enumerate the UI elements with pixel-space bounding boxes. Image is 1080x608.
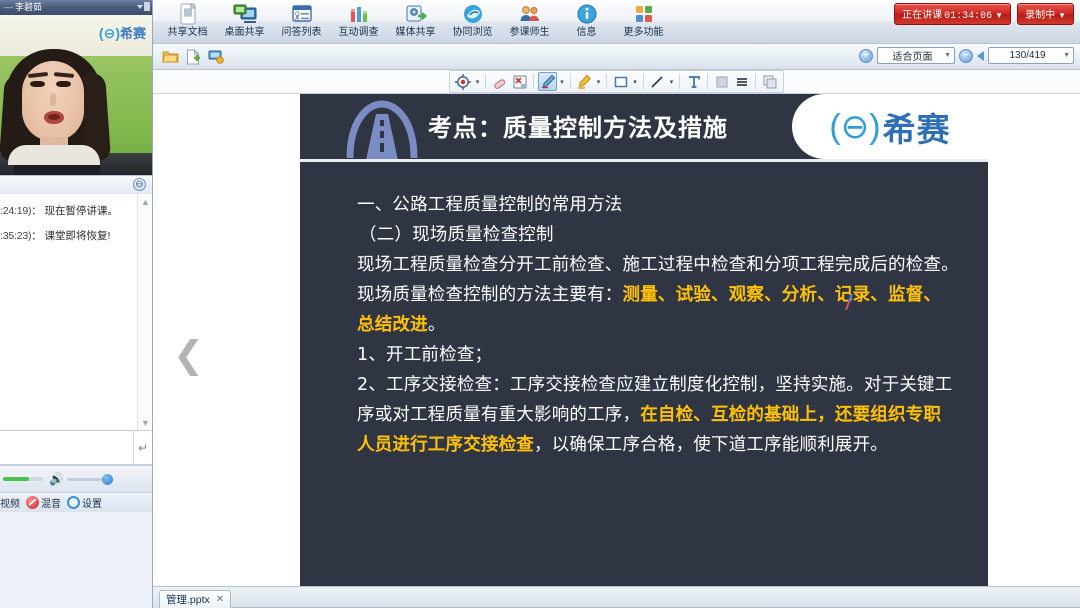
teacher-video-feed[interactable]: (⊖)希赛: [0, 15, 152, 175]
shirt-icon: [8, 145, 100, 165]
chat-message-list: :24:19)： 现在暂停讲课。 :35:23)： 课堂即将恢复!: [0, 194, 137, 430]
annotation-toolbar: ▾ ▾ ▾: [153, 70, 1080, 94]
scroll-down-icon[interactable]: ▼: [138, 415, 153, 430]
xisai-logo-text: 希赛: [883, 103, 951, 151]
chat-timestamp: :35:23)：: [0, 230, 42, 242]
chat-scrollbar[interactable]: ▲ ▼: [137, 194, 152, 430]
speaker-icon[interactable]: 🔊: [49, 472, 64, 486]
audio-item-video[interactable]: 视频: [0, 495, 20, 510]
eye-right-icon: [56, 81, 71, 87]
road-icon: [340, 98, 424, 160]
document-toolbar: + 适合页面 ▼ − 130/419 ▼: [153, 44, 1080, 70]
previous-page-button[interactable]: [977, 51, 984, 61]
pen-icon[interactable]: [538, 72, 557, 91]
chevron-down-icon[interactable]: ▼: [1058, 11, 1066, 20]
volume-slider-knob[interactable]: [102, 474, 113, 485]
slide-line-9-highlight: 人员进行工序交接检查: [357, 435, 534, 455]
toolbar-item-co-browse[interactable]: 协同浏览: [444, 0, 501, 39]
divider: [606, 74, 607, 89]
slide-line-4-highlight: 测量、试验、观察、分析、记录、监督、: [623, 285, 942, 305]
slide-line-8-highlight: 在自检、互检的基础上，还要组织专职: [640, 405, 941, 425]
zoom-controls: + 适合页面 ▼ − 130/419 ▼: [859, 47, 1074, 64]
new-document-icon[interactable]: [184, 48, 202, 66]
microphone-level-slider[interactable]: [3, 477, 43, 481]
page-indicator-value: 130/419: [995, 50, 1060, 61]
microphone-level-fill: [3, 477, 29, 481]
rectangle-icon[interactable]: [611, 72, 630, 91]
document-tab[interactable]: 管理.pptx ✕: [159, 590, 231, 608]
document-tab-label: 管理.pptx: [166, 592, 210, 607]
main-area: 共享文档 桌面共享 QA 问答列表 互动调查: [153, 0, 1080, 608]
toolbar-label: 信息: [558, 26, 615, 39]
zoom-in-button[interactable]: +: [859, 49, 873, 63]
scroll-up-icon[interactable]: ▲: [138, 194, 153, 209]
list-item: :35:23)： 课堂即将恢复!: [0, 223, 135, 248]
chat-toolbar: ⊖: [0, 176, 152, 194]
laser-pointer-icon[interactable]: [454, 72, 473, 91]
slide-line-9: 人员进行工序交接检查，以确保工序合格，使下道工序能顺利展开。: [357, 430, 954, 460]
toolbar-item-desktop-share[interactable]: 桌面共享: [216, 0, 273, 39]
survey-chart-icon: [330, 2, 387, 26]
chat-timestamp: :24:19)：: [0, 205, 42, 217]
xisai-logo: (⊖) 希赛: [792, 94, 988, 159]
divider: [755, 74, 756, 89]
slide-line-9-plain: ，以确保工序合格，使下道工序能顺利展开。: [534, 435, 888, 455]
chat-panel: ⊖ :24:19)： 现在暂停讲课。 :35:23)： 课堂即将恢复! ▲ ▼ …: [0, 175, 152, 512]
slide-stage: ❮ 考点：质量控制方法及措施 (⊖): [153, 94, 1080, 586]
divider: [643, 74, 644, 89]
divider: [570, 74, 571, 89]
collapse-icon[interactable]: ⊖: [133, 178, 146, 191]
toolbar-label: 协同浏览: [444, 26, 501, 39]
divider: [485, 74, 486, 89]
settings-label: 设置: [82, 495, 102, 510]
slide-header: 考点：质量控制方法及措施 (⊖) 希赛: [300, 94, 988, 162]
fit-mode-value: 适合页面: [884, 48, 941, 63]
divider: [533, 74, 534, 89]
chevron-down-icon[interactable]: ▼: [995, 11, 1003, 20]
gear-icon[interactable]: [67, 496, 80, 509]
slide-line-3: 现场工程质量检查分开工前检查、施工过程中检查和分项工程完成后的检查。: [357, 250, 954, 280]
application-window: —李碧茹: [0, 0, 1080, 608]
toolbar-item-media-share[interactable]: 媒体共享: [387, 0, 444, 39]
toolbar-item-info[interactable]: 信息: [558, 0, 615, 39]
chat-input[interactable]: ↵: [0, 430, 152, 465]
list-item: :24:19)： 现在暂停讲课。: [0, 198, 135, 223]
chat-text: 课堂即将恢复!: [45, 230, 111, 242]
chevron-down-icon[interactable]: ▾: [595, 78, 603, 86]
fill-color-icon[interactable]: [712, 72, 731, 91]
video-title-text: 李碧茹: [15, 2, 42, 12]
chat-text: 现在暂停讲课。: [45, 205, 119, 217]
xisai-watermark-text: 希赛: [120, 26, 146, 41]
toolbar-label: 互动调查: [330, 26, 387, 39]
xisai-ring-icon: (⊖): [829, 110, 880, 144]
slide-line-5: 总结改进。: [357, 310, 954, 340]
chevron-down-icon[interactable]: ▾: [474, 78, 482, 86]
co-browse-icon: [444, 2, 501, 26]
slide-line-2: （二）现场质量检查控制: [357, 220, 954, 250]
media-share-icon: [387, 2, 444, 26]
main-toolbar: 共享文档 桌面共享 QA 问答列表 互动调查: [153, 0, 1080, 44]
previous-slide-button[interactable]: ❮: [173, 336, 204, 373]
video-window-buttons[interactable]: [137, 2, 150, 11]
toolbar-label: 更多功能: [615, 26, 672, 39]
toolbar-label: 桌面共享: [216, 26, 273, 39]
slide-line-1: 一、公路工程质量控制的常用方法: [357, 190, 954, 220]
chevron-down-icon[interactable]: [137, 5, 143, 9]
slide-line-5-highlight: 总结改进: [357, 315, 428, 335]
fit-mode-select[interactable]: 适合页面 ▼: [877, 47, 955, 64]
slide-body: 一、公路工程质量控制的常用方法 （二）现场质量检查控制 现场工程质量检查分开工前…: [300, 162, 988, 460]
divider: [679, 74, 680, 89]
header-divider: [300, 159, 988, 162]
chevron-down-icon[interactable]: ▼: [1063, 52, 1070, 59]
shared-document-icon: [159, 2, 216, 26]
toolbar-item-survey[interactable]: 互动调查: [330, 0, 387, 39]
teaching-label: 正在讲课: [902, 10, 942, 21]
toolbar-label: 参课师生: [501, 26, 558, 39]
video-label: 视频: [0, 495, 20, 510]
screenshot-icon[interactable]: [760, 72, 779, 91]
chevron-down-icon[interactable]: ▼: [944, 52, 951, 59]
eye-left-icon: [30, 81, 45, 87]
teaching-timer: 01:34:06: [944, 11, 992, 22]
line-icon[interactable]: [648, 72, 667, 91]
send-icon[interactable]: ↵: [133, 431, 152, 465]
participants-icon: [501, 2, 558, 26]
chevron-down-icon[interactable]: ▾: [558, 78, 566, 86]
text-icon[interactable]: [684, 72, 703, 91]
slide-line-4: 现场质量检查控制的方法主要有：测量、试验、观察、分析、记录、监督、: [357, 280, 954, 310]
zoom-out-button[interactable]: −: [959, 49, 973, 63]
volume-slider[interactable]: [67, 478, 111, 481]
chevron-down-icon[interactable]: ▾: [668, 78, 676, 86]
close-icon[interactable]: ✕: [216, 594, 224, 605]
nose-icon: [50, 93, 56, 106]
slide-line-5-plain: 。: [428, 315, 446, 335]
line-weight-icon[interactable]: [732, 72, 751, 91]
recording-label: 录制中: [1025, 10, 1055, 21]
annotation-tool-group: ▾ ▾ ▾: [449, 70, 785, 93]
page-title: 考点：质量控制方法及措施: [428, 108, 728, 143]
restore-icon[interactable]: [144, 2, 150, 11]
toolbar-label: 媒体共享: [387, 26, 444, 39]
slide-canvas[interactable]: 考点：质量控制方法及措施 (⊖) 希赛 一、公路工程质量控制的常用方法 （二）现…: [300, 94, 988, 586]
open-folder-icon[interactable]: [161, 48, 179, 66]
eraser-icon[interactable]: [490, 72, 509, 91]
audio-item-mix[interactable]: 混音: [26, 495, 61, 510]
info-icon: [558, 2, 615, 26]
status-bar-filler: [231, 590, 1080, 608]
status-badge-recording[interactable]: 录制中▼: [1017, 3, 1074, 25]
toolbar-item-shared-document[interactable]: 共享文档: [159, 0, 216, 39]
mouth-inner-icon: [48, 114, 60, 120]
toolbar-item-qa-list[interactable]: QA 问答列表: [273, 0, 330, 39]
xisai-ring-icon: (⊖): [99, 25, 120, 41]
highlighter-icon[interactable]: [575, 72, 594, 91]
slide-line-4-plain: 现场质量检查控制的方法主要有：: [357, 285, 623, 305]
video-title-prefix: —: [4, 2, 13, 12]
slide-line-8: 序或对工程质量有重大影响的工序，在自检、互检的基础上，还要组织专职: [357, 400, 954, 430]
slide-line-7: 2、工序交接检查：工序交接检查应建立制度化控制，坚持实施。对于关键工: [357, 370, 954, 400]
video-window-titlebar[interactable]: —李碧茹: [0, 0, 152, 15]
qa-list-icon: QA: [273, 2, 330, 26]
toolbar-item-participants[interactable]: 参课师生: [501, 0, 558, 39]
more-functions-icon: [615, 2, 672, 26]
video-watermark: (⊖)希赛: [99, 23, 146, 42]
mix-label: 混音: [41, 495, 61, 510]
toolbar-item-more[interactable]: 更多功能: [615, 0, 672, 39]
page-indicator-select[interactable]: 130/419 ▼: [988, 47, 1074, 64]
toolbar-label: 共享文档: [159, 26, 216, 39]
slide-line-6: 1、开工前检查；: [357, 340, 954, 370]
upload-document-icon[interactable]: [207, 48, 225, 66]
audio-item-settings[interactable]: 设置: [67, 495, 102, 510]
mouth-icon: [44, 111, 64, 124]
status-bar: 管理.pptx ✕: [153, 586, 1080, 608]
chevron-down-icon[interactable]: ▾: [631, 78, 639, 86]
mute-icon[interactable]: [26, 496, 39, 509]
desktop-share-icon: [216, 2, 273, 26]
clear-all-icon[interactable]: [510, 72, 529, 91]
audio-controls: 🔊: [0, 465, 152, 492]
audio-label-row: 视频 混音 设置: [0, 492, 152, 512]
status-buttons: 正在讲课01:34:06▼ 录制中▼: [894, 3, 1074, 25]
divider: [707, 74, 708, 89]
teacher-figure: [6, 49, 102, 161]
toolbar-label: 问答列表: [273, 26, 330, 39]
slide-line-8-plain: 序或对工程质量有重大影响的工序，: [357, 405, 640, 425]
left-panel: —李碧茹: [0, 0, 153, 608]
status-badge-teaching[interactable]: 正在讲课01:34:06▼: [894, 3, 1011, 25]
